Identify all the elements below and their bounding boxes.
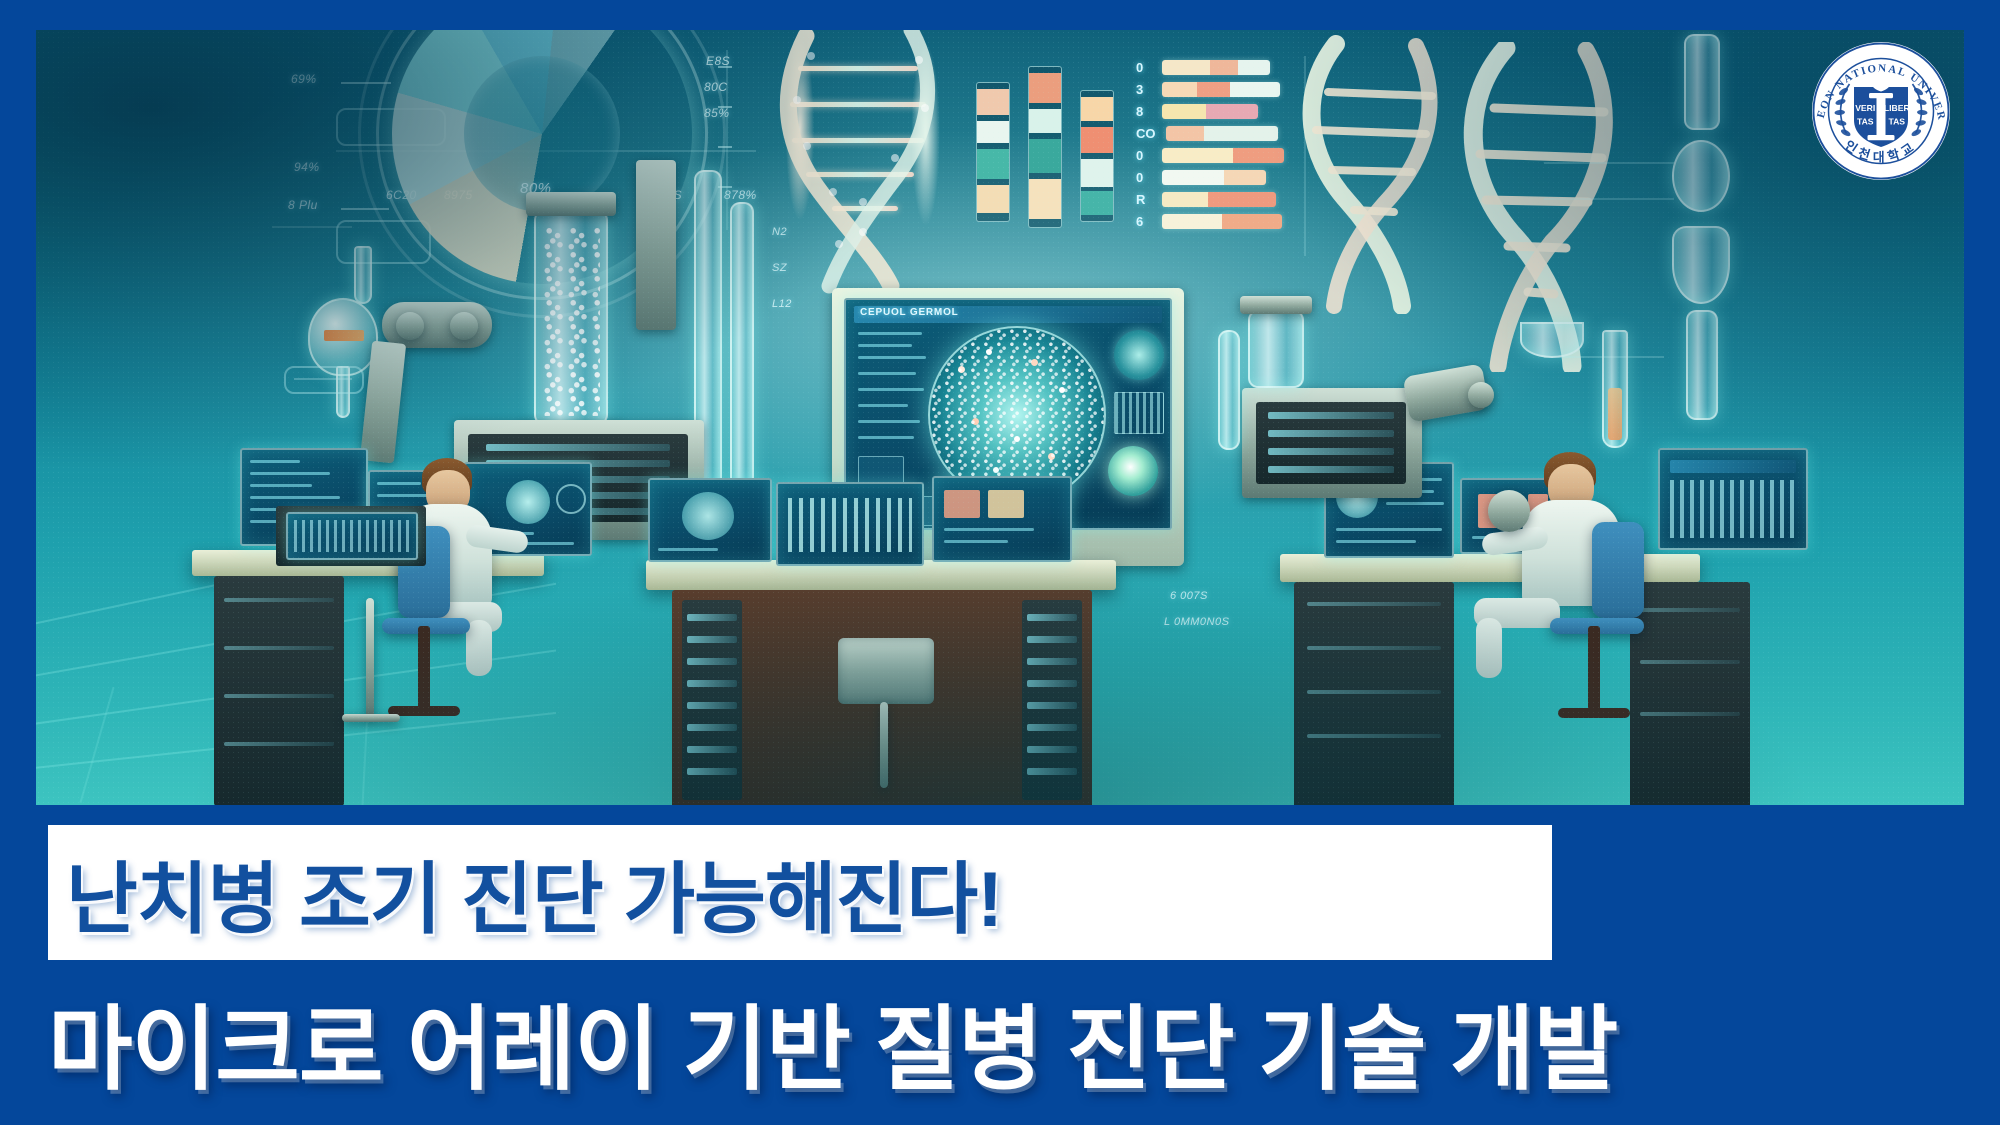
column-tube-4 (730, 202, 754, 488)
hud-label-69: 69% (291, 72, 317, 86)
column-label: N2 (772, 226, 787, 238)
table-row (1162, 60, 1270, 75)
analyzer-lens (1468, 382, 1494, 408)
hud-connector-2 (1544, 198, 1674, 200)
tick (718, 106, 732, 108)
hud-rule-2 (272, 226, 352, 228)
data-row-number: 8 (1136, 104, 1143, 119)
hud-label-8plu: 8 Plu (288, 198, 318, 212)
test-tube-small (354, 246, 372, 304)
right-desk-cabinet (1294, 582, 1454, 805)
data-row-number: CO (1136, 126, 1156, 141)
sample-cylinder-cap (1240, 296, 1312, 314)
center-bench-slots-right (1022, 600, 1082, 800)
chair-right-foot (1558, 708, 1630, 718)
gel-column-1 (976, 82, 1010, 222)
sample-tube-right-1 (1218, 330, 1240, 450)
tick (718, 66, 732, 68)
distillation-column-bottom (1686, 310, 1718, 420)
hud-label-panel: 6 007S (1170, 590, 1208, 602)
tick (718, 146, 732, 148)
chair-left-post (418, 626, 430, 712)
logo-motto-tas-left: TAS (1857, 117, 1874, 127)
table-row (1162, 82, 1280, 97)
hud-label-94: 94% (294, 160, 320, 174)
distillation-flask-2 (1672, 226, 1730, 304)
hud-label-panel-2: L 0MM0N0S (1164, 616, 1229, 628)
analyzer-slots (1256, 402, 1406, 484)
center-monitor-right (932, 476, 1072, 562)
headline-white-box: 난치병 조기 진단 가능해진다! (48, 825, 1552, 960)
iv-stand-base (342, 714, 400, 722)
robotic-arm-joint-2 (450, 312, 478, 340)
center-monitor-left (648, 478, 772, 562)
center-vessel-stem (880, 702, 888, 788)
logo-motto-tas-right: TAS (1888, 117, 1905, 127)
column-tube-2 (636, 160, 676, 330)
column-label-3: L12 (772, 298, 792, 310)
hud-rule-3 (294, 378, 352, 380)
analyzer-pipe (1488, 490, 1530, 532)
table-row (1166, 126, 1278, 141)
news-card-root: 69% 94% 8 Plu 6C20 8975 DMS 878% E8S 80C… (0, 0, 2000, 1125)
barcode-panel (1114, 392, 1164, 434)
hud-frame-3 (284, 366, 364, 394)
headline-line-1: 난치병 조기 진단 가능해진다! (66, 837, 1002, 949)
university-logo: INCHEON NATIONAL UNIVERSITY 인천대학교 (1806, 36, 1956, 186)
data-row-number: 0 (1136, 60, 1143, 75)
gel-column-3 (1080, 90, 1114, 222)
table-row (1162, 170, 1266, 185)
left-rack-screen (286, 512, 418, 560)
thumbnail-scan (1114, 330, 1164, 380)
robotic-arm-joint (396, 312, 424, 340)
gel-column-2 (1028, 66, 1062, 228)
logo-motto-liber: LIBER (1884, 103, 1911, 113)
column-label-2: SZ (772, 262, 787, 274)
data-row-number: 0 (1136, 170, 1143, 185)
iv-stand (366, 598, 374, 718)
chair-right (1592, 522, 1644, 618)
data-row-number: 0 (1136, 148, 1143, 163)
scale-ticks (726, 50, 728, 230)
illustration-panel: 69% 94% 8 Plu 6C20 8975 DMS 878% E8S 80C… (36, 30, 1964, 805)
chair-right-post (1588, 626, 1600, 714)
hud-connector-1 (1544, 162, 1674, 164)
distillation-column-top (1684, 34, 1720, 130)
hud-label-878: 878% (724, 188, 757, 202)
bioreactor-cap (526, 192, 616, 216)
data-row-number: R (1136, 192, 1145, 207)
main-monitor-title-text: CEPUOL GERMOL (860, 307, 959, 318)
highlight-cell (1108, 446, 1158, 496)
table-row (1162, 148, 1284, 163)
table-row (1162, 192, 1276, 207)
left-desk-cabinet (214, 576, 344, 805)
logo-motto-veri: VERI (1855, 103, 1875, 113)
reagent-vial-label (324, 330, 364, 341)
distillation-flask-1 (1672, 140, 1730, 212)
table-row (1162, 104, 1258, 119)
headline-line-2: 마이크로 어레이 기반 질병 진단 기술 개발 (48, 975, 1952, 1108)
right-desk-cabinet-2 (1630, 582, 1750, 805)
bioreactor-bubbles (542, 226, 600, 416)
center-vessel (838, 638, 934, 704)
table-row (1162, 214, 1282, 229)
center-monitor-mid (776, 482, 924, 566)
dna-helix-left-strands (771, 30, 961, 296)
center-bench-slots-left (682, 600, 742, 800)
right-monitor-3 (1658, 448, 1808, 550)
data-row-number: 6 (1136, 214, 1143, 229)
funnel-apparatus (1520, 322, 1584, 358)
burette-liquid (1608, 388, 1622, 440)
sample-cylinder-right (1248, 310, 1304, 388)
data-row-number: 3 (1136, 82, 1143, 97)
